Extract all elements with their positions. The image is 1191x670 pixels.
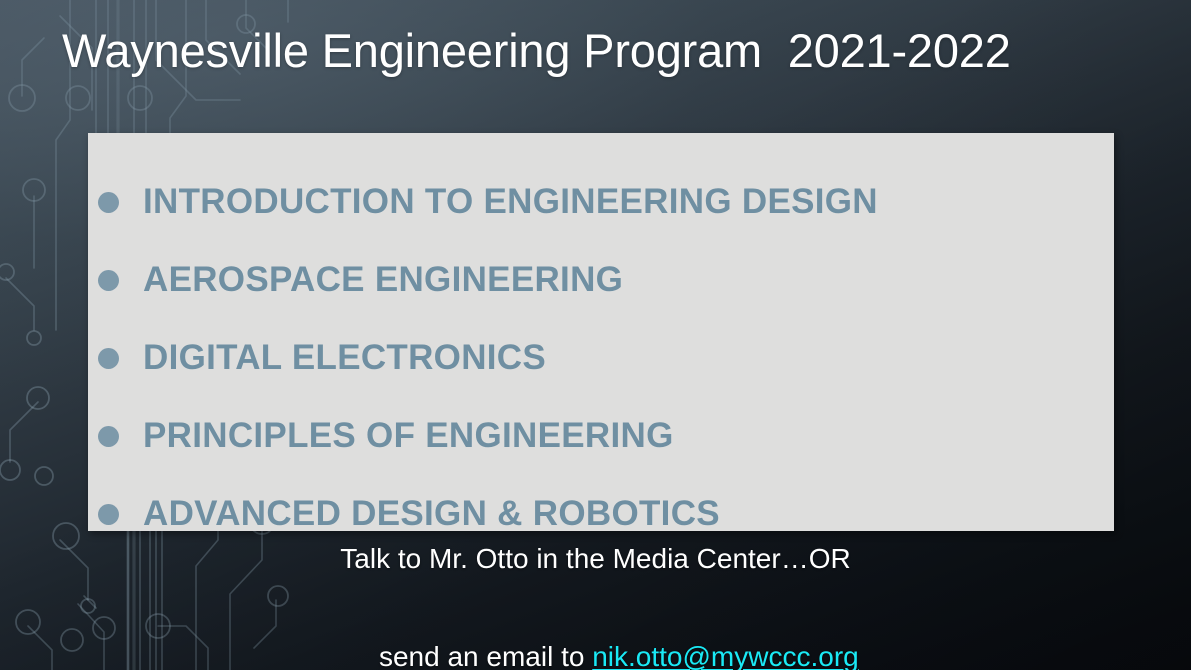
email-link[interactable]: nik.otto@mywccc.org	[592, 641, 859, 670]
course-list-panel: INTRODUCTION TO ENGINEERING DESIGN AEROS…	[88, 133, 1114, 531]
course-label: INTRODUCTION TO ENGINEERING DESIGN	[143, 182, 878, 222]
list-item[interactable]: INTRODUCTION TO ENGINEERING DESIGN	[88, 163, 1114, 241]
footer-email-prefix: send an email to	[379, 641, 592, 670]
list-item[interactable]: ADVANCED DESIGN & ROBOTICS	[88, 475, 1114, 553]
presentation-slide: Waynesville Engineering Program 2021-202…	[0, 0, 1191, 670]
footer-contact-block: Talk to Mr. Otto in the Media Center…OR …	[0, 545, 1191, 670]
course-list: INTRODUCTION TO ENGINEERING DESIGN AEROS…	[88, 163, 1114, 553]
bullet-dot-icon	[98, 348, 119, 369]
footer-email-line: send an email to nik.otto@mywccc.org	[0, 615, 1191, 670]
list-item[interactable]: AEROSPACE ENGINEERING	[88, 241, 1114, 319]
course-label: PRINCIPLES OF ENGINEERING	[143, 416, 674, 456]
bullet-dot-icon	[98, 426, 119, 447]
bullet-dot-icon	[98, 192, 119, 213]
footer-instruction-text: Talk to Mr. Otto in the Media Center…OR	[0, 545, 1191, 573]
list-item[interactable]: DIGITAL ELECTRONICS	[88, 319, 1114, 397]
course-label: AEROSPACE ENGINEERING	[143, 260, 623, 300]
bullet-dot-icon	[98, 270, 119, 291]
slide-title: Waynesville Engineering Program 2021-202…	[62, 23, 1011, 78]
bullet-dot-icon	[98, 504, 119, 525]
course-label: ADVANCED DESIGN & ROBOTICS	[143, 494, 720, 534]
course-label: DIGITAL ELECTRONICS	[143, 338, 546, 378]
list-item[interactable]: PRINCIPLES OF ENGINEERING	[88, 397, 1114, 475]
